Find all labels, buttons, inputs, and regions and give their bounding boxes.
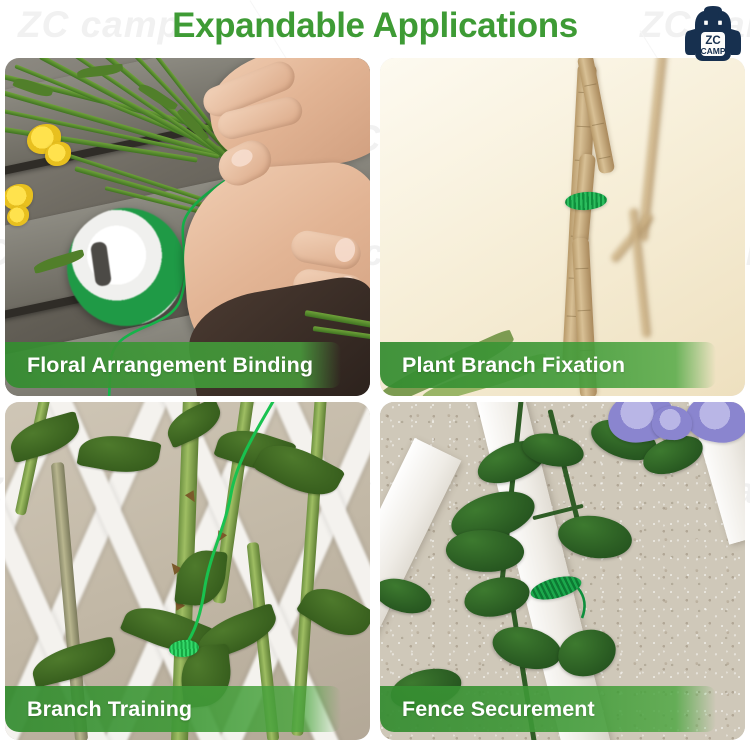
caption-label: Branch Training xyxy=(5,697,192,722)
caption-label: Fence Securement xyxy=(380,697,595,722)
brand-line2: CAMP xyxy=(700,46,725,56)
caption-label: Plant Branch Fixation xyxy=(380,353,625,378)
panel-caption: Branch Training xyxy=(5,686,341,732)
panel-caption: Fence Securement xyxy=(380,686,716,732)
application-panel-fence-securement[interactable]: Fence Securement xyxy=(380,402,745,740)
application-grid: Floral Arrangement Binding xyxy=(0,56,750,750)
background-branch xyxy=(638,58,667,242)
backpack-icon: ZC CAMP xyxy=(682,3,744,65)
panel-caption: Plant Branch Fixation xyxy=(380,342,716,388)
application-panel-floral-arrangement-binding[interactable]: Floral Arrangement Binding xyxy=(5,58,370,396)
caption-label: Floral Arrangement Binding xyxy=(5,353,313,378)
infographic-page: ZC camp ZC camp ZC camp ZC camp ZC camp … xyxy=(0,0,750,750)
application-panel-branch-training[interactable]: Branch Training xyxy=(5,402,370,740)
application-panel-plant-branch-fixation[interactable]: Plant Branch Fixation xyxy=(380,58,745,396)
page-title: Expandable Applications xyxy=(0,2,750,50)
brand-badge: ZC CAMP xyxy=(682,3,744,65)
panel-caption: Floral Arrangement Binding xyxy=(5,342,341,388)
page-header: Expandable Applications xyxy=(0,0,750,56)
